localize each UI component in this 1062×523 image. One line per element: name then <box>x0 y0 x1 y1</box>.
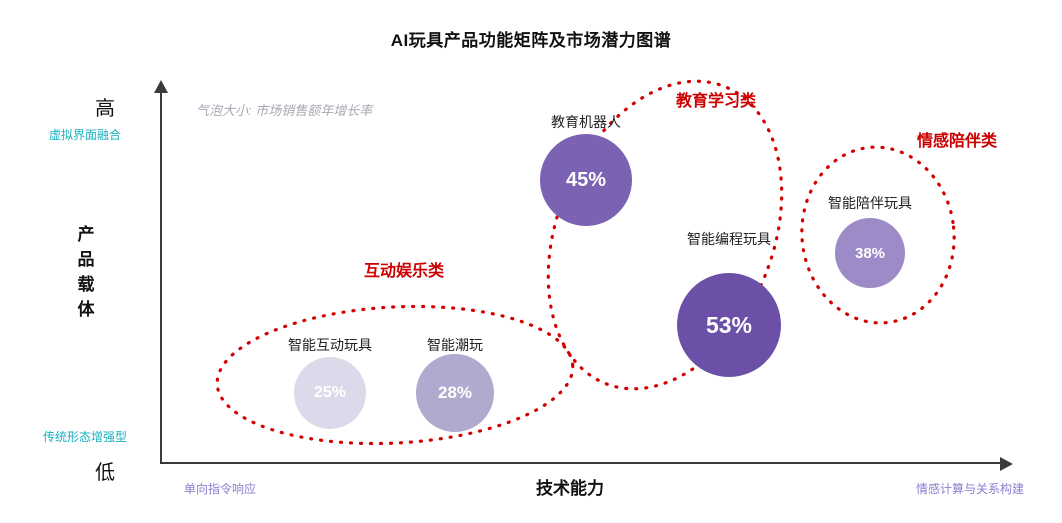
cluster-label-emotional-companion: 情感陪伴类 <box>917 127 997 151</box>
x-axis-left-sublabel: 单向指令响应 <box>130 480 310 497</box>
chart-canvas: AI玩具产品功能矩阵及市场潜力图谱 高 虚拟界面融合 传统形态增强型 低 产品载… <box>0 0 1062 523</box>
y-axis-high-label: 高 <box>60 92 150 121</box>
bubble-label-1: 智能互动玩具 <box>260 335 400 355</box>
y-axis-title: 产品载体 <box>73 222 99 322</box>
chart-title: AI玩具产品功能矩阵及市场潜力图谱 <box>0 26 1062 51</box>
cluster-label-education-learning: 教育学习类 <box>676 87 756 111</box>
cluster-label-interactive-entertainment: 互动娱乐类 <box>364 257 444 281</box>
y-axis-arrow-icon <box>154 80 168 93</box>
bubble-4[interactable]: 53% <box>677 273 781 377</box>
bubble-label-3: 教育机器人 <box>516 112 656 132</box>
bubble-label-5: 智能陪伴玩具 <box>800 193 940 213</box>
bubble-3[interactable]: 45% <box>540 134 632 226</box>
bubble-label-4: 智能编程玩具 <box>659 229 799 249</box>
bubble-1[interactable]: 25% <box>294 357 366 429</box>
bubble-label-2: 智能潮玩 <box>385 335 525 355</box>
x-axis-arrow-icon <box>1000 457 1013 471</box>
y-axis-line <box>160 92 162 464</box>
bubble-size-note: 气泡大小: 市场销售额年增长率 <box>196 100 372 119</box>
x-axis-title: 技术能力 <box>470 474 670 499</box>
y-axis-low-sublabel: 传统形态增强型 <box>20 428 150 445</box>
y-axis-high-sublabel: 虚拟界面融合 <box>20 126 150 143</box>
bubble-2[interactable]: 28% <box>416 354 494 432</box>
x-axis-line <box>160 462 1003 464</box>
x-axis-right-sublabel: 情感计算与关系构建 <box>880 480 1060 497</box>
bubble-5[interactable]: 38% <box>835 218 905 288</box>
